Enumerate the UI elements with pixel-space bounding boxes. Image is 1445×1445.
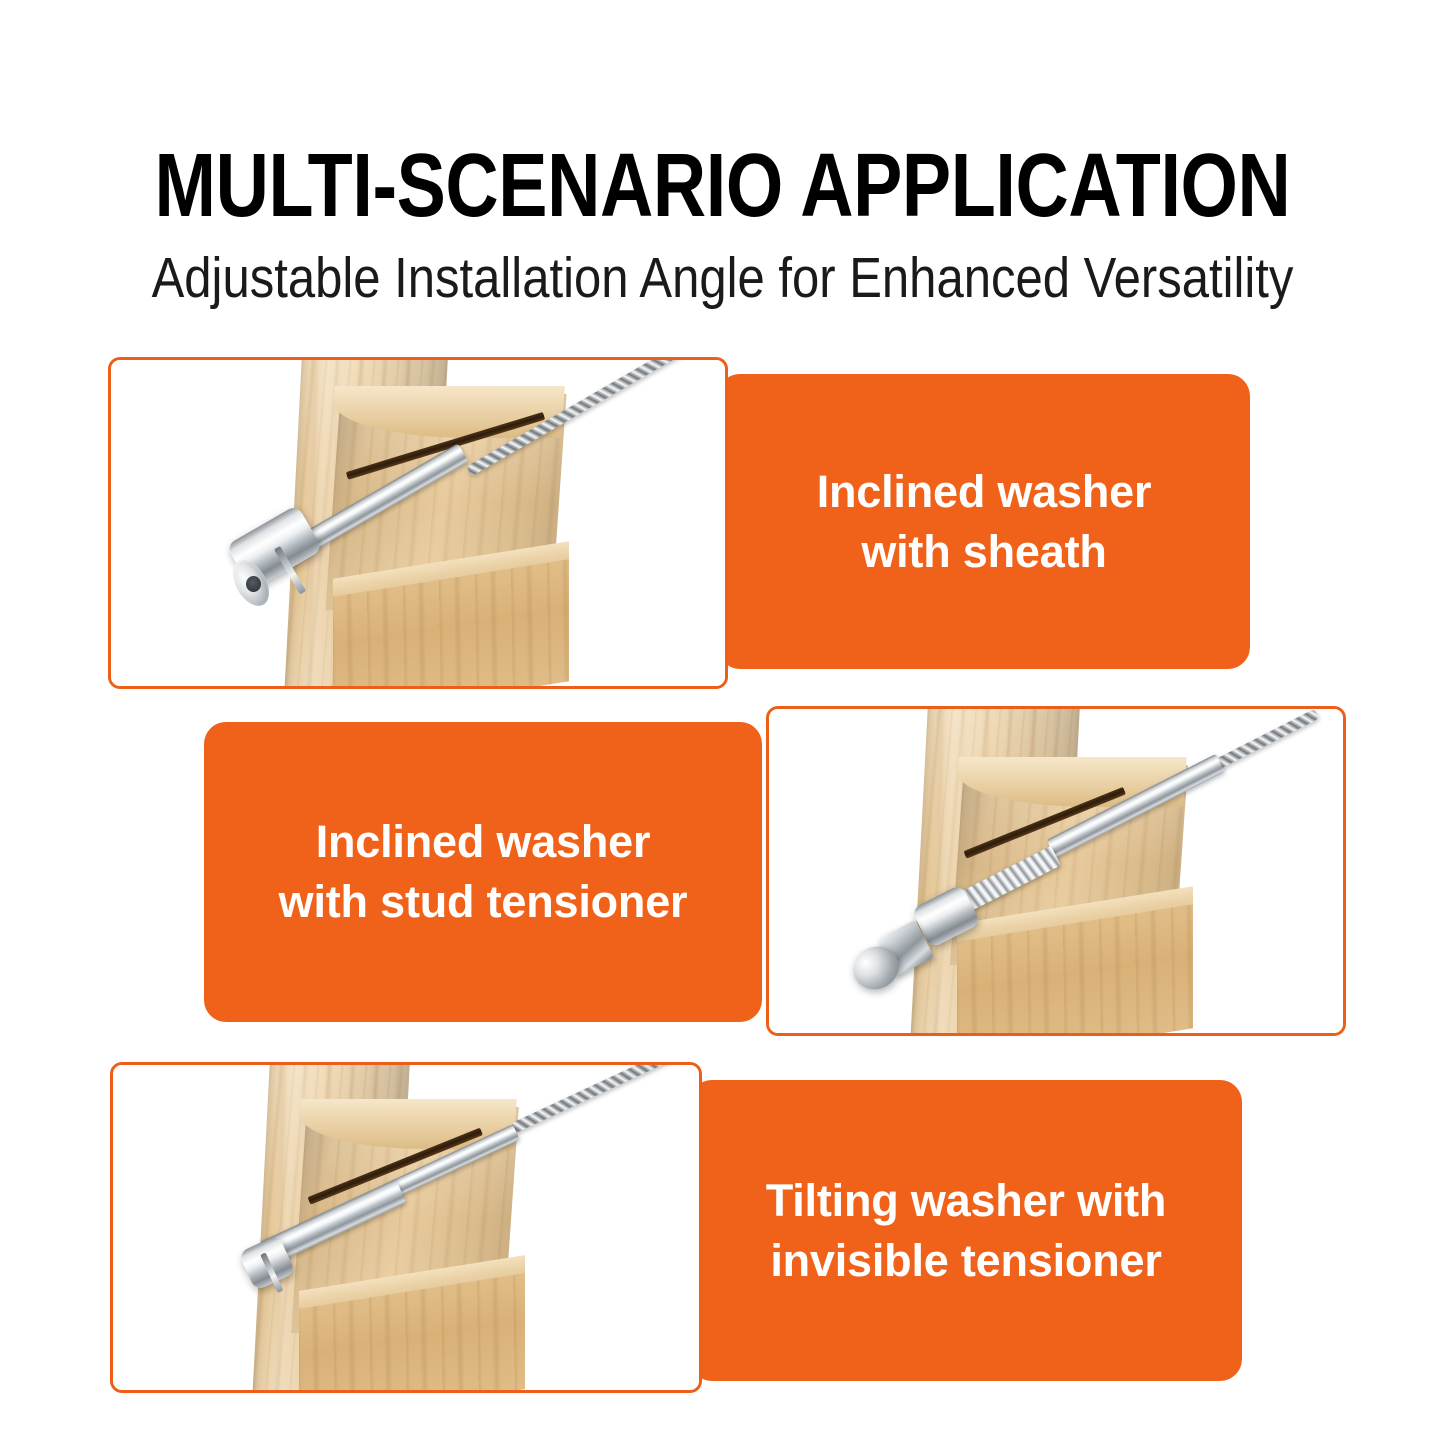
- steel-cable: [511, 1062, 690, 1133]
- scenario-photo-tilting-washer-with-invisible-tensioner: [110, 1062, 702, 1393]
- scenario-photo-inclined-washer-with-stud-tensioner: [766, 706, 1346, 1036]
- scenario-label-inclined-washer-with-stud-tensioner: Inclined washer with stud tensioner: [204, 722, 762, 1022]
- scenario-label-text: Tilting washer with invisible tensioner: [740, 1171, 1192, 1291]
- steel-cable: [1215, 709, 1320, 770]
- scenario-label-inclined-washer-with-sheath: Inclined washer with sheath: [718, 374, 1250, 669]
- photo-scene: [111, 360, 725, 686]
- scenario-photo-inclined-washer-with-sheath: [108, 357, 728, 689]
- scenario-label-tilting-washer-with-invisible-tensioner: Tilting washer with invisible tensioner: [690, 1080, 1242, 1381]
- page-title: MULTI-SCENARIO APPLICATION: [130, 140, 1315, 232]
- scenario-label-text: Inclined washer with stud tensioner: [253, 812, 714, 932]
- cap-set-screw-hole: [246, 576, 261, 592]
- photo-scene: [113, 1065, 699, 1390]
- page-subtitle: Adjustable Installation Angle for Enhanc…: [101, 248, 1344, 308]
- scenario-label-text: Inclined washer with sheath: [791, 462, 1178, 582]
- photo-scene: [769, 709, 1343, 1033]
- infographic-page: MULTI-SCENARIO APPLICATION Adjustable In…: [0, 0, 1445, 1445]
